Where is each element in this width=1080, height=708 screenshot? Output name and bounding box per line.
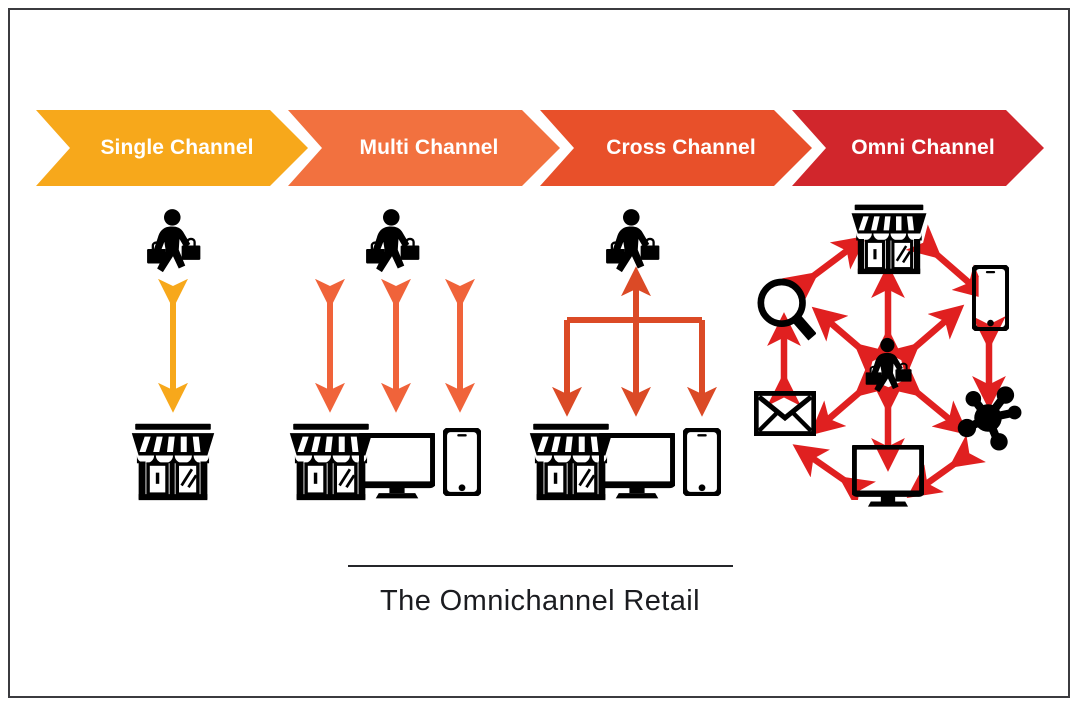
store-icon xyxy=(850,203,928,275)
desktop-monitor-icon xyxy=(359,433,435,500)
desktop-monitor-icon xyxy=(599,433,675,500)
figure-title: The Omnichannel Retail xyxy=(0,585,1080,618)
caption-divider xyxy=(348,565,733,567)
omnichannel-retail-diagram: Single Channel Multi Channel Cross Chann… xyxy=(0,0,1080,708)
figure-caption: The Omnichannel Retail xyxy=(0,565,1080,618)
stage-chevron-multi-channel[interactable]: Multi Channel xyxy=(288,110,560,186)
stage-chevron-omni-channel[interactable]: Omni Channel xyxy=(792,110,1044,186)
stage-label-cross-channel: Cross Channel xyxy=(540,110,812,186)
multi-channel-column xyxy=(292,200,492,500)
stage-label-multi-channel: Multi Channel xyxy=(288,110,560,186)
ring-desktop-email xyxy=(808,455,854,487)
ring-store-mobile xyxy=(928,247,974,287)
store-icon xyxy=(130,422,216,501)
single-channel-column xyxy=(110,200,240,500)
stage-chevron-single-channel[interactable]: Single Channel xyxy=(36,110,308,186)
omni-channel-column xyxy=(742,195,1034,500)
envelope-icon xyxy=(754,391,816,436)
smartphone-icon xyxy=(972,265,1009,331)
network-hub-icon xyxy=(954,385,1022,451)
desktop-monitor-icon xyxy=(852,445,924,508)
stage-label-single-channel: Single Channel xyxy=(36,110,308,186)
cross-channel-column xyxy=(532,200,732,500)
channel-evolution-banner: Single Channel Multi Channel Cross Chann… xyxy=(36,110,1044,186)
stage-chevron-cross-channel[interactable]: Cross Channel xyxy=(540,110,812,186)
smartphone-icon xyxy=(443,428,481,496)
shopper-icon xyxy=(857,337,919,399)
smartphone-icon xyxy=(683,428,721,496)
ring-network-desktop xyxy=(922,457,964,487)
magnifier-icon xyxy=(754,277,816,342)
stage-label-omni-channel: Omni Channel xyxy=(792,110,1044,186)
